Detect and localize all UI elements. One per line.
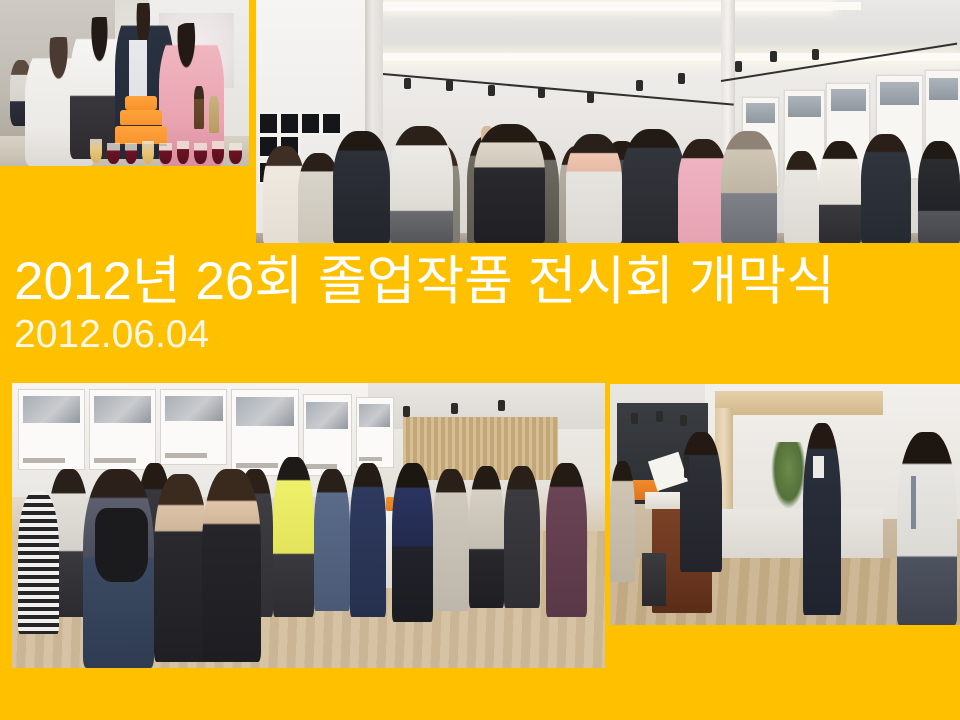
exhibition-board [356,397,394,467]
attendee [566,134,622,243]
cake-photo-scene [0,0,249,166]
cake-top-tier [125,96,157,109]
attendee [819,141,861,243]
framed-thumbnail [279,112,300,135]
event-date: 2012.06.04 [14,312,209,358]
drink-glass [107,143,119,165]
ceiling-light [692,2,861,9]
student [350,463,386,617]
student [202,469,261,663]
students-reception-photo [12,383,605,668]
cake-cutting-photo [0,0,249,166]
backpack [95,508,148,582]
drink-glass [229,143,241,165]
speaker-at-podium [680,432,722,572]
podium-photo-scene [610,384,960,625]
student [154,474,207,662]
wine-bottle [209,96,219,133]
spotlight [656,411,663,422]
spotlight [678,73,685,84]
spotlight [538,87,545,98]
spotlight [636,80,643,91]
exhibition-board [89,389,156,471]
student-striped-shirt [18,491,60,634]
dress-shirt-collar [813,456,824,478]
attendee [610,461,635,582]
attendee-in-suit [622,129,685,243]
spotlight [451,403,458,414]
student-yellow-shirt [273,457,315,617]
drink-glass [159,143,171,165]
framed-thumbnail [300,112,321,135]
drink-glass [90,139,102,162]
exhibition-board [18,389,85,471]
exhibition-board [303,394,352,476]
attendee-in-beige-jacket [474,124,544,243]
spotlight [631,413,638,424]
lanyard [911,476,916,529]
pa-speaker [642,553,667,606]
exhibition-board [160,389,227,465]
student-navy-shirt [392,463,434,623]
attendee-in-white-shirt [390,126,453,243]
spotlight [735,61,742,72]
wine-bottle [194,86,204,129]
student [546,463,588,617]
spotlight [812,49,819,60]
attendee [784,151,819,243]
drink-glass [125,143,137,165]
attendee-in-suit [861,134,910,243]
attendee-in-suit [333,131,389,243]
student [433,469,469,612]
student [314,469,350,612]
group-photo-scene [256,0,960,243]
microphone [684,456,690,478]
spotlight [770,51,777,62]
spotlight [446,80,453,91]
spotlight [680,415,687,426]
students-photo-scene [12,383,605,668]
podium-ceremony-photo [610,384,960,625]
student [504,466,540,609]
spotlight [403,406,410,417]
presentation-slide: 2012년 26회 졸업작품 전시회 개막식 2012.06.04 [0,0,960,720]
framed-thumbnail [258,112,279,135]
man-in-suit [803,423,842,616]
drink-glass [177,141,189,164]
attendee [918,141,960,243]
group-photo [256,0,960,243]
potted-plant [771,442,806,509]
attendee [721,131,777,243]
spotlight [498,400,505,411]
page-title: 2012년 26회 졸업작품 전시회 개막식 [14,252,835,312]
drink-glass [194,143,206,165]
spotlight [587,92,594,103]
student [469,466,505,609]
wooden-ceiling-beam [715,391,883,415]
title-block: 2012년 26회 졸업작품 전시회 개막식 2012.06.04 [0,248,960,378]
framed-thumbnail [321,112,342,135]
drink-glass [212,141,224,164]
spotlight [488,85,495,96]
man-in-white-shirt [897,432,957,625]
spotlight [404,78,411,89]
